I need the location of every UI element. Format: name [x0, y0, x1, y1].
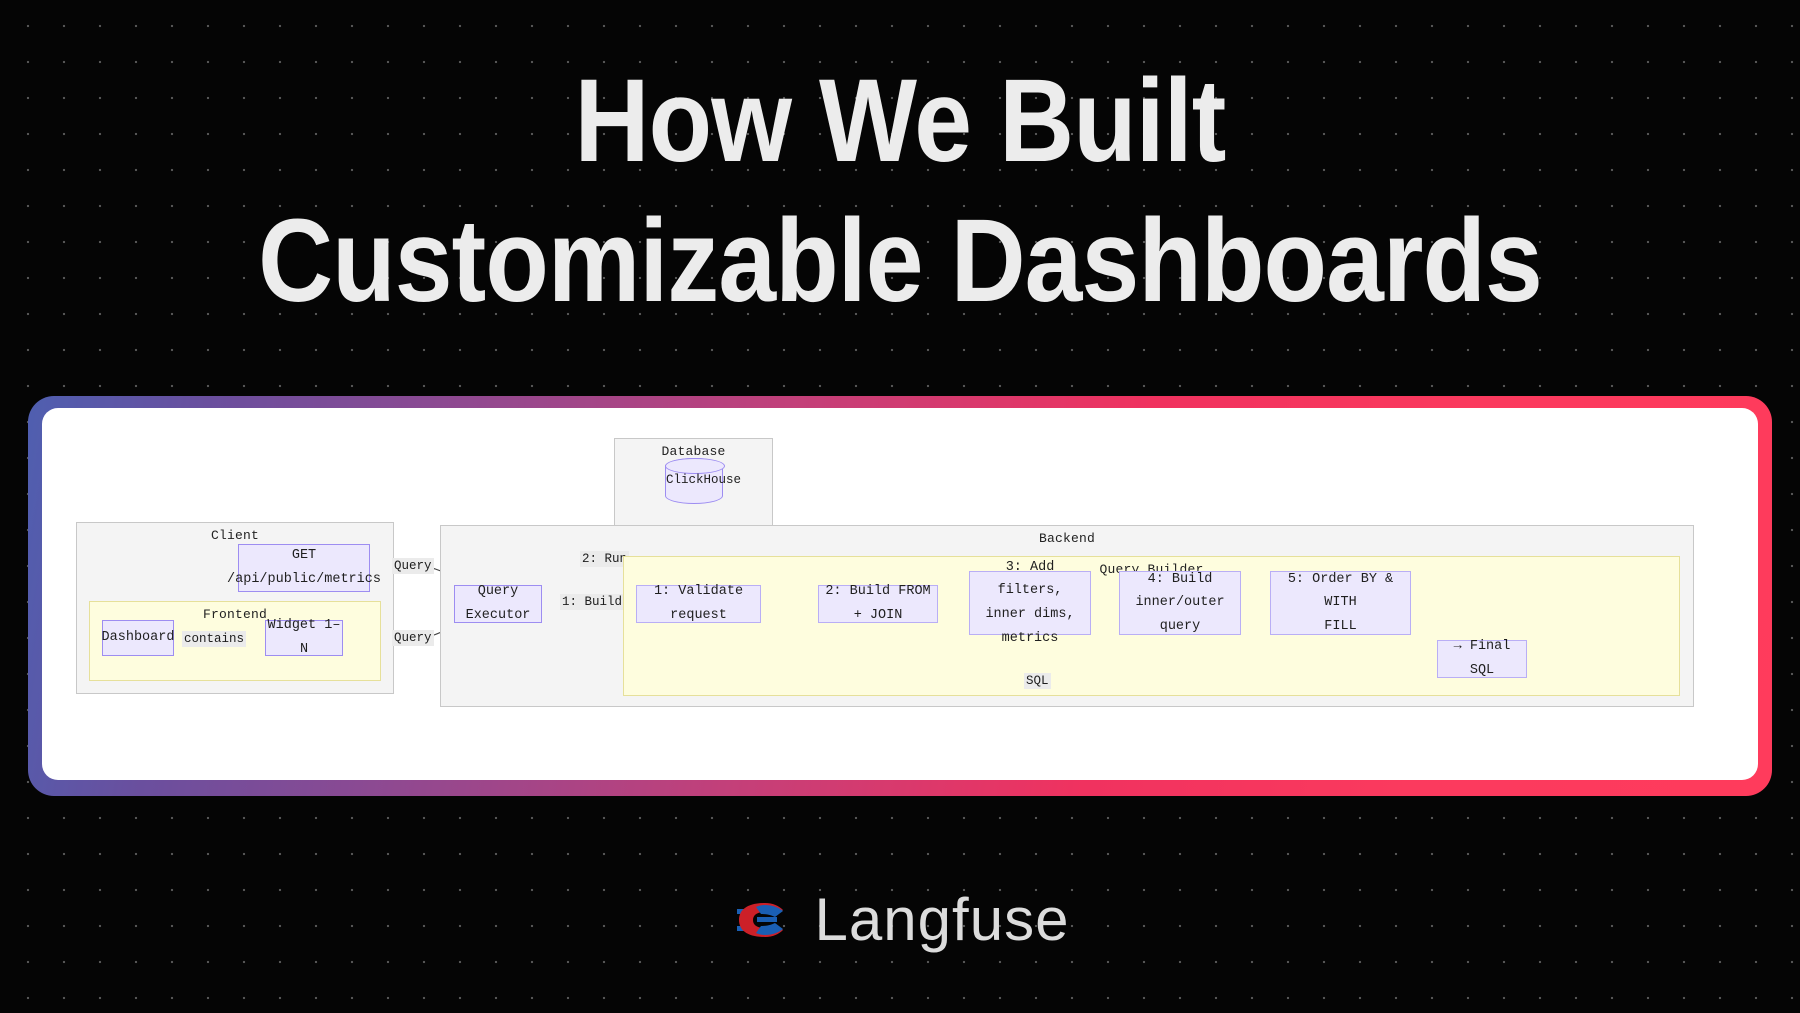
node-step-5-line-2: FILL	[1324, 615, 1356, 639]
edge-label-run: 2: Run	[580, 551, 629, 567]
edge-label-query-bottom: Query	[392, 630, 434, 646]
brand-name: Langfuse	[815, 885, 1070, 954]
node-widget[interactable]: Widget 1–N	[265, 620, 343, 656]
node-step-4-line-2: inner/outer query	[1120, 591, 1240, 638]
node-clickhouse[interactable]: ClickHouse	[665, 458, 723, 504]
node-final-sql[interactable]: → Final SQL	[1437, 640, 1527, 678]
node-get-endpoint-line-1: GET	[292, 544, 316, 568]
node-step-4[interactable]: 4: Build inner/outer query	[1119, 571, 1241, 635]
node-step-4-line-1: 4: Build	[1148, 568, 1213, 592]
node-step-1-label: 1: Validate request	[637, 580, 760, 627]
node-widget-label: Widget 1–N	[266, 614, 342, 661]
node-step-5[interactable]: 5: Order BY & WITH FILL	[1270, 571, 1411, 635]
group-database-label: Database	[615, 444, 772, 459]
group-backend-label: Backend	[441, 531, 1693, 546]
footer-brand: Langfuse	[0, 885, 1800, 954]
group-client-label: Client	[77, 528, 393, 543]
node-get-endpoint-line-2: /api/public/metrics	[227, 568, 381, 592]
node-query-executor[interactable]: Query Executor	[454, 585, 542, 623]
edge-label-query-top: Query	[392, 558, 434, 574]
node-step-5-line-1: 5: Order BY & WITH	[1271, 568, 1410, 615]
node-dashboard[interactable]: Dashboard	[102, 620, 174, 656]
node-step-2[interactable]: 2: Build FROM + JOIN	[818, 585, 938, 623]
node-get-endpoint[interactable]: GET /api/public/metrics	[238, 544, 370, 592]
page-title-line-1: How We Built	[108, 62, 1692, 180]
node-step-3-line-1: 3: Add filters,	[970, 556, 1090, 603]
node-dashboard-label: Dashboard	[102, 626, 175, 650]
node-step-3-line-2: inner dims, metrics	[970, 603, 1090, 650]
edge-label-contains: contains	[182, 631, 246, 647]
node-clickhouse-label: ClickHouse	[666, 473, 722, 487]
edge-label-sql: SQL	[1024, 673, 1051, 689]
diagram-card: Client GET /api/public/metrics Frontend …	[42, 408, 1758, 780]
langfuse-logo-icon	[731, 897, 793, 943]
edge-label-build: 1: Build	[560, 594, 624, 610]
node-query-executor-label: Query Executor	[455, 580, 541, 627]
node-step-1[interactable]: 1: Validate request	[636, 585, 761, 623]
node-final-sql-label: → Final SQL	[1438, 635, 1526, 682]
page-title-line-2: Customizable Dashboards	[108, 202, 1692, 320]
node-step-3[interactable]: 3: Add filters, inner dims, metrics	[969, 571, 1091, 635]
diagram-card-frame: Client GET /api/public/metrics Frontend …	[28, 396, 1772, 796]
node-step-2-label: 2: Build FROM + JOIN	[819, 580, 937, 627]
page-title: How We Built Customizable Dashboards	[108, 62, 1692, 320]
